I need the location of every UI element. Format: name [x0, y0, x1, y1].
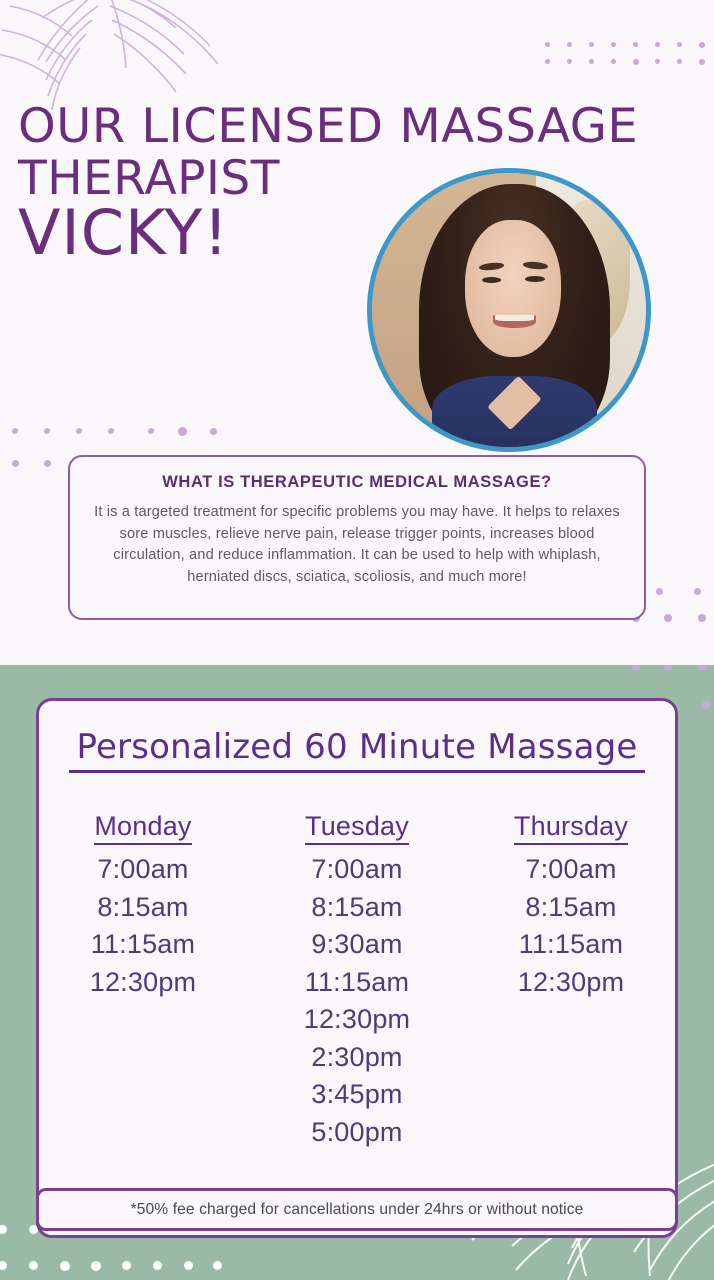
time-slot[interactable]: 9:30am [267, 926, 447, 964]
time-slot[interactable]: 11:15am [53, 926, 233, 964]
time-slot[interactable]: 8:15am [53, 889, 233, 927]
cancellation-policy-box: *50% fee charged for cancellations under… [36, 1188, 678, 1231]
time-slot[interactable]: 5:00pm [267, 1114, 447, 1152]
time-slot[interactable]: 7:00am [267, 851, 447, 889]
time-slot[interactable]: 7:00am [481, 851, 661, 889]
time-slot[interactable]: 12:30pm [267, 1001, 447, 1039]
therapist-portrait-photo [367, 168, 651, 452]
time-slot[interactable]: 7:00am [53, 851, 233, 889]
day-header-tuesday: Tuesday [305, 811, 409, 845]
portrait-eye-left [482, 277, 501, 283]
time-slot[interactable]: 12:30pm [481, 964, 661, 1002]
time-list-monday: 7:00am 8:15am 11:15am 12:30pm [53, 851, 233, 1001]
schedule-columns: Monday 7:00am 8:15am 11:15am 12:30pm Tue… [51, 811, 663, 1151]
schedule-title: Personalized 60 Minute Massage [69, 727, 645, 773]
flyer-root: OUR LICENSED MASSAGE THERAPIST VICKY! [0, 0, 714, 1280]
portrait-face [465, 220, 561, 357]
day-header-monday: Monday [94, 811, 191, 845]
time-slot[interactable]: 12:30pm [53, 964, 233, 1002]
time-slot[interactable]: 11:15am [267, 964, 447, 1002]
time-slot[interactable]: 11:15am [481, 926, 661, 964]
schedule-column-thursday: Thursday 7:00am 8:15am 11:15am 12:30pm [481, 811, 661, 1001]
dot-grid-lower-right [650, 588, 714, 634]
time-slot[interactable]: 8:15am [267, 889, 447, 927]
schedule-column-monday: Monday 7:00am 8:15am 11:15am 12:30pm [53, 811, 233, 1001]
schedule-card: Personalized 60 Minute Massage Monday 7:… [36, 698, 678, 1238]
schedule-section: Personalized 60 Minute Massage Monday 7:… [0, 665, 714, 1280]
time-list-tuesday: 7:00am 8:15am 9:30am 11:15am 12:30pm 2:3… [267, 851, 447, 1151]
time-list-thursday: 7:00am 8:15am 11:15am 12:30pm [481, 851, 661, 1001]
time-slot[interactable]: 2:30pm [267, 1039, 447, 1077]
portrait-eye-right [525, 276, 544, 282]
day-header-thursday: Thursday [514, 811, 628, 845]
info-box-title: WHAT IS THERAPEUTIC MEDICAL MASSAGE? [92, 473, 622, 492]
schedule-column-tuesday: Tuesday 7:00am 8:15am 9:30am 11:15am 12:… [267, 811, 447, 1151]
portrait-mouth [493, 315, 537, 327]
time-slot[interactable]: 3:45pm [267, 1076, 447, 1114]
portrait-image [372, 173, 646, 447]
dot-grid-top-right [545, 42, 714, 72]
info-box: WHAT IS THERAPEUTIC MEDICAL MASSAGE? It … [68, 455, 646, 620]
headline-line-1: OUR LICENSED MASSAGE [18, 104, 714, 150]
cancellation-policy-text: *50% fee charged for cancellations under… [131, 1201, 584, 1219]
info-box-body: It is a targeted treatment for specific … [92, 502, 622, 588]
portrait-teeth [495, 315, 534, 321]
top-section: OUR LICENSED MASSAGE THERAPIST VICKY! [0, 0, 714, 665]
time-slot[interactable]: 8:15am [481, 889, 661, 927]
